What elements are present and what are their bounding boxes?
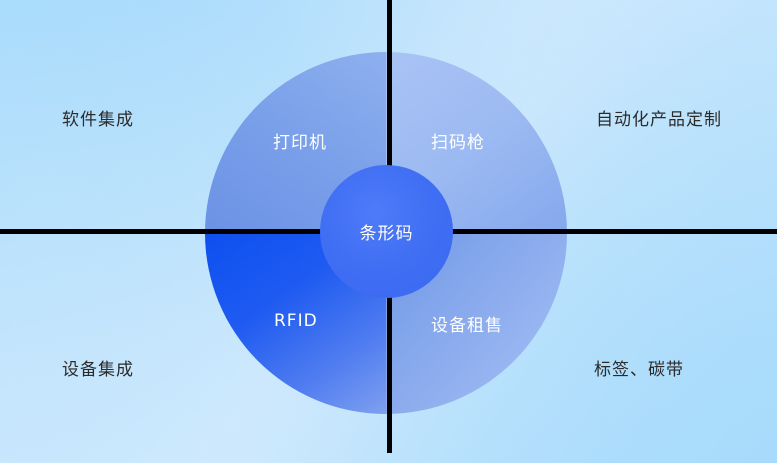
quadrant-label-bottom-left: 设备集成 [62, 355, 134, 380]
ring-label-top-right: 扫码枪 [431, 128, 485, 153]
quadrant-label-bottom-right: 标签、碳带 [594, 355, 684, 380]
quadrant-label-top-left: 软件集成 [62, 105, 134, 130]
diagram-canvas: 条形码 打印机 扫码枪 RFID 设备租售 软件集成 自动化产品定制 设备集成 … [0, 0, 777, 463]
quadrant-label-top-right: 自动化产品定制 [596, 105, 722, 130]
core-circle-label: 条形码 [360, 219, 414, 244]
ring-label-bottom-right: 设备租售 [431, 311, 503, 336]
core-circle[interactable]: 条形码 [320, 165, 453, 298]
ring-label-bottom-left: RFID [274, 311, 318, 331]
ring-label-top-left: 打印机 [273, 128, 327, 153]
